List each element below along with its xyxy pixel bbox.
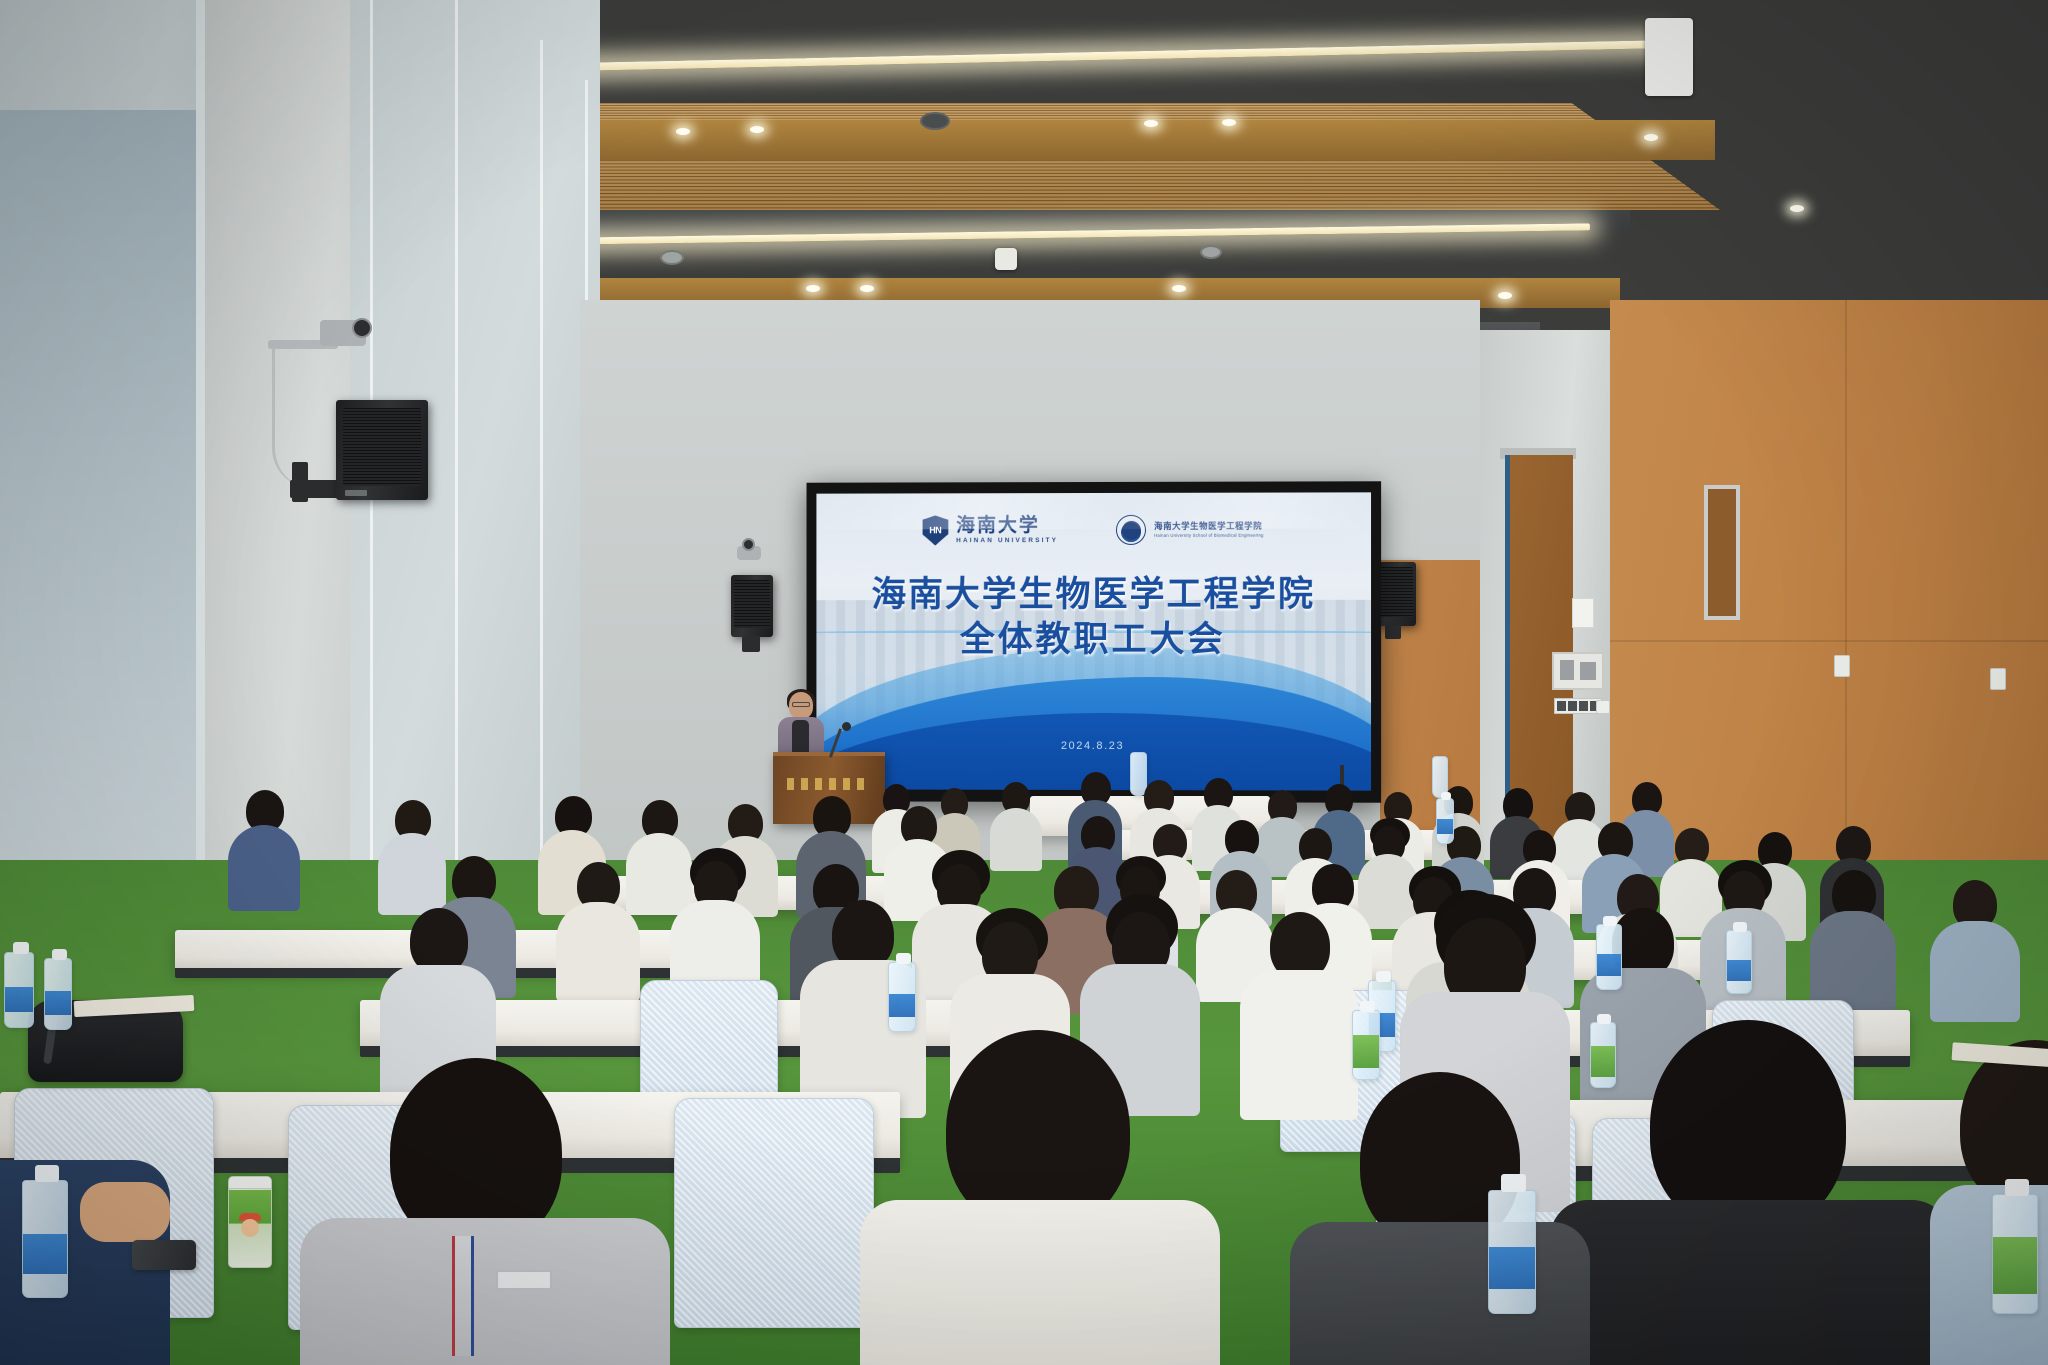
recessed-downlight [1498, 292, 1512, 299]
wall-niche [1704, 485, 1740, 620]
door-sign [1572, 598, 1594, 628]
conference-hall-photo: HN 海南大学 HAINAN UNIVERSITY 海南大学生物医学工程学院 H… [0, 0, 2048, 1365]
light-switch[interactable] [1554, 698, 1602, 714]
attendee [1810, 870, 1896, 1012]
slide-date: 2024.8.23 [816, 739, 1371, 752]
water-bottle [888, 962, 916, 1032]
speaker-bracket [1385, 625, 1401, 639]
power-outlet[interactable] [1596, 700, 1610, 714]
screen-content: HN 海南大学 HAINAN UNIVERSITY 海南大学生物医学工程学院 H… [816, 492, 1371, 790]
projector-unit [1645, 18, 1693, 96]
water-bottle [1596, 924, 1622, 990]
recessed-downlight [1644, 134, 1658, 141]
recessed-downlight [1172, 285, 1186, 292]
beverage-bottle [1590, 1022, 1616, 1088]
slide-title-line1: 海南大学生物医学工程学院 [816, 573, 1371, 618]
recessed-downlight [806, 285, 820, 292]
recessed-downlight [1790, 205, 1804, 212]
water-bottle [1436, 798, 1454, 844]
water-bottle [44, 958, 72, 1030]
water-bottle [4, 952, 34, 1028]
roller-blind [0, 110, 200, 970]
attendee [1930, 880, 2020, 1020]
projection-screen: HN 海南大学 HAINAN UNIVERSITY 海南大学生物医学工程学院 H… [807, 481, 1382, 802]
attendee-foreground [300, 1058, 670, 1365]
beverage-bottle [1992, 1194, 2038, 1314]
power-outlet[interactable] [1990, 668, 2006, 690]
school-name-en: Hainan University School of Biomedical E… [1154, 533, 1263, 538]
screen-glare [816, 492, 1371, 529]
attendee [556, 862, 640, 1000]
beverage-bottle [1352, 1010, 1380, 1080]
speaker-bracket [292, 462, 308, 502]
wall-panel-seam [1610, 640, 2048, 642]
university-name-en: HAINAN UNIVERSITY [956, 537, 1058, 544]
recessed-downlight [1144, 120, 1158, 127]
recessed-downlight [1222, 119, 1236, 126]
camera-lens-icon [742, 538, 755, 551]
speaker-bracket [742, 636, 760, 652]
slide-title: 海南大学生物医学工程学院 全体教职工大会 [816, 573, 1371, 663]
recessed-downlight [676, 128, 690, 135]
column-speaker-left [731, 575, 773, 637]
slide-title-line2: 全体教职工大会 [816, 618, 1371, 663]
microphone-icon [842, 722, 851, 731]
framed-artwork [1552, 652, 1604, 690]
snack-canister [228, 1176, 272, 1268]
wall-panel-seam [1845, 300, 1847, 900]
recessed-downlight [750, 126, 764, 133]
camera-lens-icon [352, 318, 372, 338]
ceiling-sprinkler [660, 250, 684, 265]
water-bottle [22, 1180, 68, 1298]
attendee [228, 790, 300, 910]
recessed-downlight [860, 285, 874, 292]
attendee-foreground [1290, 1072, 1590, 1365]
glasses-icon [792, 702, 810, 707]
ceiling-sprinkler [920, 112, 950, 130]
attendee-foreground [860, 1030, 1220, 1365]
power-outlet[interactable] [1834, 655, 1850, 677]
smartphone[interactable] [132, 1240, 196, 1270]
water-bottle [1488, 1190, 1536, 1314]
smoke-detector [995, 248, 1017, 270]
ceiling-sprinkler [1200, 245, 1222, 259]
chair[interactable] [674, 1098, 874, 1328]
attendee [990, 782, 1042, 870]
water-bottle [1726, 930, 1752, 994]
wall-speaker [336, 400, 428, 500]
glass-partition-seam [455, 0, 458, 960]
